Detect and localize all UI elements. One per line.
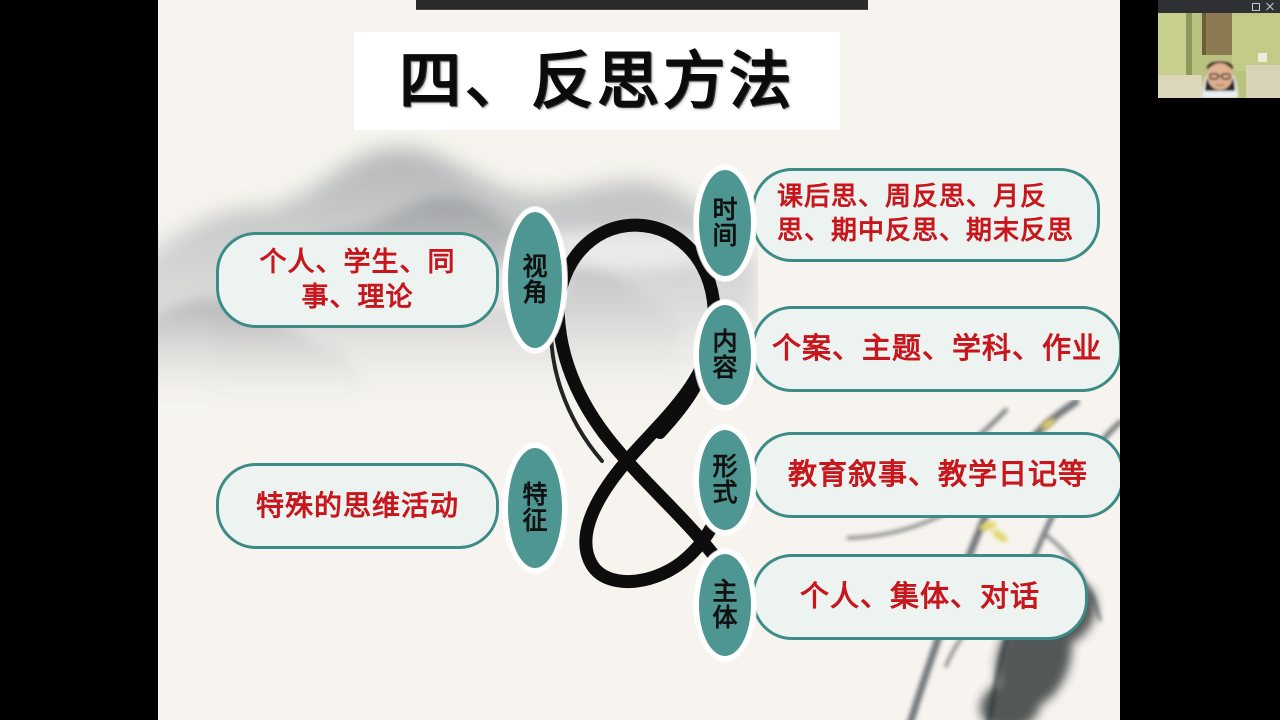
branch-label-subject: 主体 (711, 579, 739, 632)
video-feed (1158, 13, 1280, 98)
branch-node-subject[interactable]: 主体 (694, 549, 756, 661)
branch-box-subject[interactable]: 个人、集体、对话 (752, 554, 1088, 640)
branch-box-feature[interactable]: 特殊的思维活动 (216, 463, 499, 549)
branch-node-time[interactable]: 时间 (694, 165, 756, 281)
branch-box-content[interactable]: 个案、主题、学科、作业 (752, 306, 1120, 392)
branch-box-time[interactable]: 课后思、周反思、月反思、期中反思、期末反思 (752, 168, 1100, 262)
close-icon[interactable] (1266, 3, 1274, 11)
maximize-icon[interactable] (1252, 3, 1260, 11)
video-window-titlebar[interactable] (1158, 0, 1280, 13)
self-view-video-window[interactable] (1158, 0, 1280, 98)
branch-value-perspective: 个人、学生、同事、理论 (219, 245, 496, 315)
branch-node-perspective[interactable]: 视角 (503, 207, 567, 353)
branch-value-form: 教育叙事、教学日记等 (755, 455, 1120, 494)
branch-node-content[interactable]: 内容 (694, 300, 756, 410)
screen: 四、反思方法 个人、学生、同事、理论 视角 特殊的思维活动 特征 课后思、周反思… (0, 0, 1280, 720)
branch-label-time: 时间 (711, 197, 739, 250)
branch-box-form[interactable]: 教育叙事、教学日记等 (752, 432, 1120, 518)
slide-title-band: 四、反思方法 (354, 32, 840, 130)
branch-value-subject: 个人、集体、对话 (755, 577, 1085, 616)
branch-node-feature[interactable]: 特征 (503, 443, 567, 573)
page-title: 四、反思方法 (399, 50, 795, 112)
webcam-frame (1158, 13, 1280, 98)
branch-value-feature: 特殊的思维活动 (219, 487, 496, 525)
branch-label-feature: 特征 (521, 482, 549, 535)
presentation-slide: 四、反思方法 个人、学生、同事、理论 视角 特殊的思维活动 特征 课后思、周反思… (158, 0, 1120, 720)
branch-node-form[interactable]: 形式 (694, 425, 756, 535)
branch-label-perspective: 视角 (521, 254, 549, 307)
branch-box-perspective[interactable]: 个人、学生、同事、理论 (216, 232, 499, 328)
branch-value-time: 课后思、周反思、月反思、期中反思、期末反思 (755, 181, 1097, 249)
branch-label-content: 内容 (711, 329, 739, 382)
branch-label-form: 形式 (711, 454, 739, 507)
branch-value-content: 个案、主题、学科、作业 (755, 329, 1119, 368)
presentation-toolbar[interactable] (416, 0, 868, 10)
